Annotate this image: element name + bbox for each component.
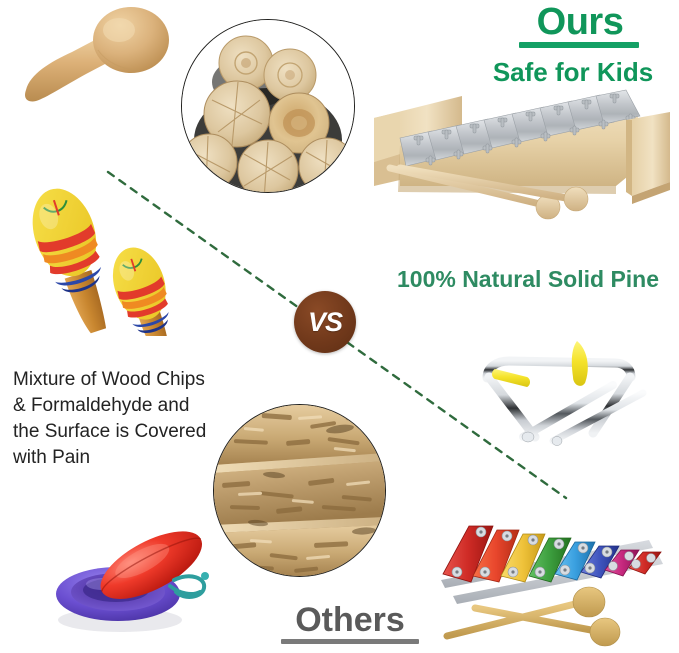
others-caption: Mixture of Wood Chips & Formaldehyde and… — [13, 367, 253, 471]
chrome-triangle-instrument — [465, 333, 660, 453]
others-caption-line-2: & Formaldehyde and — [13, 393, 253, 419]
infographic-canvas: Ours Safe for Kids 100% Natural Solid Pi… — [0, 0, 679, 653]
colorful-xylophone — [425, 512, 675, 653]
wooden-maraca-shaker — [6, 2, 176, 107]
others-caption-line-4: with Pain — [13, 445, 253, 471]
plastic-castanet — [34, 508, 209, 636]
versus-badge: VS — [294, 291, 356, 353]
others-caption-line-1: Mixture of Wood Chips — [13, 367, 253, 393]
versus-label: VS — [308, 307, 342, 338]
ours-title-underline — [519, 42, 639, 48]
ours-subtitle: Safe for Kids — [470, 55, 676, 89]
others-caption-line-3: the Surface is Covered — [13, 419, 253, 445]
others-title-underline — [281, 639, 419, 644]
wooden-glockenspiel — [370, 86, 676, 236]
others-title: Others — [275, 601, 425, 639]
pine-logs-photo — [181, 19, 355, 193]
ours-caption: 100% Natural Solid Pine — [386, 264, 670, 294]
ours-title: Ours — [510, 2, 650, 42]
colorful-painted-maracas — [14, 178, 189, 336]
